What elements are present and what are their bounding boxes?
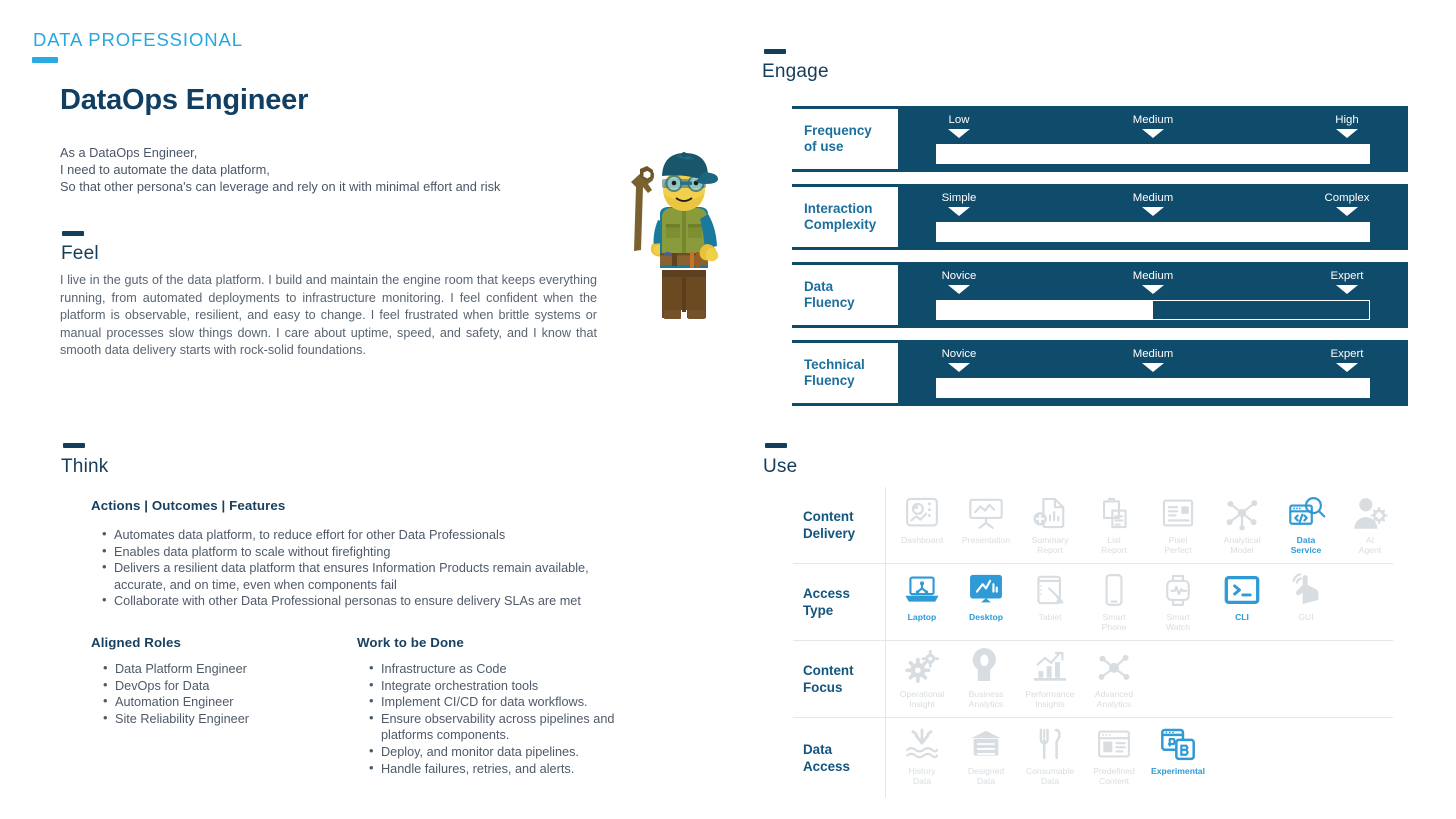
use-option-smartwatch[interactable]: Smart Watch: [1146, 571, 1210, 633]
pixel-perfect-icon: [1158, 494, 1198, 532]
engage-row: Frequency of useLowMediumHigh: [792, 106, 1408, 172]
presentation-icon: [966, 494, 1006, 532]
engage-row: Data FluencyNoviceMediumExpert: [792, 262, 1408, 328]
data-service-icon: [1286, 494, 1326, 532]
engage-tick-label: Medium: [1118, 270, 1188, 283]
use-cell-group: Operational InsightBusiness AnalyticsPer…: [885, 641, 1393, 717]
use-matrix: Content DeliveryDashboardPresentationSum…: [793, 487, 1393, 798]
use-option-label: Experimental: [1151, 766, 1205, 776]
engage-tick-label: Medium: [1118, 114, 1188, 127]
use-option-cli[interactable]: CLI: [1210, 571, 1274, 622]
use-option-tablet[interactable]: Tablet: [1018, 571, 1082, 622]
think-dash: [63, 443, 85, 448]
caret-down-icon: [1336, 207, 1358, 216]
use-option-label: Smart Watch: [1166, 612, 1190, 633]
engage-slider-track[interactable]: [936, 300, 1370, 320]
use-cell-group: History DataDesigned DataConsumable Data…: [885, 718, 1393, 798]
use-option-dashboard[interactable]: Dashboard: [890, 494, 954, 545]
use-row-label: Access Type: [793, 564, 885, 640]
caret-down-icon: [1142, 363, 1164, 372]
dashboard-icon: [902, 494, 942, 532]
use-option-list-report[interactable]: List Report: [1082, 494, 1146, 556]
engage-tick-label: High: [1312, 114, 1382, 127]
use-option-summary-report[interactable]: Summary Report: [1018, 494, 1082, 556]
engage-tick: Medium: [1118, 114, 1188, 138]
use-option-desktop[interactable]: Desktop: [954, 571, 1018, 622]
list-item: Automation Engineer: [101, 694, 351, 711]
use-option-label: Designed Data: [968, 766, 1004, 787]
caret-down-icon: [1336, 129, 1358, 138]
use-option-label: Business Analytics: [969, 689, 1004, 710]
desktop-icon: [966, 571, 1006, 609]
use-option-advanced-analytics[interactable]: Advanced Analytics: [1082, 648, 1146, 710]
use-row: Access TypeLaptopDesktopTabletSmart Phon…: [793, 564, 1393, 641]
use-option-predefined-content[interactable]: Predefined Content: [1082, 725, 1146, 787]
feel-heading: Feel: [61, 243, 99, 265]
list-item: Collaborate with other Data Professional…: [100, 593, 640, 610]
use-option-label: AI Agent: [1359, 535, 1381, 556]
engage-row-label-text: Data Fluency: [792, 279, 855, 312]
use-option-label: Smart Phone: [1102, 612, 1127, 633]
list-item: Site Reliability Engineer: [101, 711, 351, 728]
actions-outcomes-features-list: Automates data platform, to reduce effor…: [100, 527, 640, 610]
lego-minifigure-engineer-with-wrench: [618, 152, 750, 322]
engage-tick: Low: [924, 114, 994, 138]
experimental-icon: [1158, 725, 1198, 763]
use-row: Data AccessHistory DataDesigned DataCons…: [793, 718, 1393, 798]
use-option-presentation[interactable]: Presentation: [954, 494, 1018, 545]
list-item: Infrastructure as Code: [367, 661, 629, 678]
feel-dash: [62, 231, 84, 236]
list-item: Automates data platform, to reduce effor…: [100, 527, 640, 544]
use-option-label: CLI: [1235, 612, 1249, 622]
engage-slider-fill: [937, 223, 1369, 241]
engage-slider-track[interactable]: [936, 222, 1370, 242]
use-option-label: GUI: [1298, 612, 1313, 622]
engage-row: Interaction ComplexitySimpleMediumComple…: [792, 184, 1408, 250]
tablet-icon: [1030, 571, 1070, 609]
use-option-label: Data Service: [1291, 535, 1322, 556]
list-report-icon: [1094, 494, 1134, 532]
engage-slider-fill: [937, 145, 1369, 163]
advanced-analytics-icon: [1094, 648, 1134, 686]
use-option-experimental[interactable]: Experimental: [1146, 725, 1210, 776]
gui-icon: [1286, 571, 1326, 609]
aligned-roles-heading: Aligned Roles: [91, 635, 181, 650]
caret-down-icon: [948, 207, 970, 216]
use-option-label: List Report: [1101, 535, 1127, 556]
predefined-content-icon: [1094, 725, 1134, 763]
use-row-label: Content Focus: [793, 641, 885, 717]
engage-sliders: Frequency of useLowMediumHighInteraction…: [792, 106, 1408, 418]
use-option-label: Presentation: [962, 535, 1010, 545]
use-option-pixel-perfect[interactable]: Pixel Perfect: [1146, 494, 1210, 556]
work-to-be-done-list: Infrastructure as Code Integrate orchest…: [367, 661, 629, 777]
work-to-be-done-heading: Work to be Done: [357, 635, 464, 650]
caret-down-icon: [1336, 363, 1358, 372]
engage-row-label: Frequency of use: [792, 109, 898, 169]
engage-tick-label: Medium: [1118, 192, 1188, 205]
engage-tick-label: Medium: [1118, 348, 1188, 361]
eyebrow-label: DATA PROFESSIONAL: [33, 29, 243, 51]
use-option-history-data[interactable]: History Data: [890, 725, 954, 787]
use-option-analytical-model[interactable]: Analytical Model: [1210, 494, 1274, 556]
use-heading: Use: [763, 456, 797, 478]
engage-tick: Medium: [1118, 192, 1188, 216]
use-row-label: Content Delivery: [793, 487, 885, 563]
smartwatch-icon: [1158, 571, 1198, 609]
engage-row-label-text: Interaction Complexity: [792, 201, 876, 234]
list-item: Deploy, and monitor data pipelines.: [367, 744, 629, 761]
caret-down-icon: [948, 285, 970, 294]
feel-body: I live in the guts of the data platform.…: [60, 272, 597, 360]
engage-tick: Expert: [1312, 270, 1382, 294]
use-option-label: Advanced Analytics: [1095, 689, 1133, 710]
use-option-label: Summary Report: [1032, 535, 1069, 556]
engage-tick: Expert: [1312, 348, 1382, 372]
caret-down-icon: [1142, 285, 1164, 294]
page-title: DataOps Engineer: [60, 84, 308, 117]
engage-tick-label: Simple: [924, 192, 994, 205]
engage-slider-track[interactable]: [936, 378, 1370, 398]
laptop-icon: [902, 571, 942, 609]
use-option-performance-insights[interactable]: Performance Insights: [1018, 648, 1082, 710]
persona-story: As a DataOps Engineer, I need to automat…: [60, 144, 580, 195]
use-option-smartphone[interactable]: Smart Phone: [1082, 571, 1146, 633]
engage-tick-label: Novice: [924, 348, 994, 361]
use-option-label: Operational Insight: [900, 689, 944, 710]
operational-insight-icon: [902, 648, 942, 686]
left-column: DATA PROFESSIONAL DataOps Engineer As a …: [0, 0, 756, 819]
aligned-roles-list: Data Platform Engineer DevOps for Data A…: [101, 661, 351, 727]
engage-row: Technical FluencyNoviceMediumExpert: [792, 340, 1408, 406]
use-option-business-analytics[interactable]: Business Analytics: [954, 648, 1018, 710]
use-option-ai-agent[interactable]: AI Agent: [1338, 494, 1402, 556]
use-option-label: Desktop: [969, 612, 1003, 622]
analytical-model-icon: [1222, 494, 1262, 532]
engage-tick: Medium: [1118, 270, 1188, 294]
use-option-gui[interactable]: GUI: [1274, 571, 1338, 622]
use-option-label: Laptop: [908, 612, 937, 622]
list-item: Ensure observability across pipelines an…: [367, 711, 629, 744]
list-item: Delivers a resilient data platform that …: [100, 560, 640, 593]
engage-tick: Novice: [924, 348, 994, 372]
use-option-label: History Data: [909, 766, 936, 787]
use-option-designed-data[interactable]: Designed Data: [954, 725, 1018, 787]
use-option-operational-insight[interactable]: Operational Insight: [890, 648, 954, 710]
use-option-label: Analytical Model: [1224, 535, 1261, 556]
caret-down-icon: [1142, 129, 1164, 138]
persona-card: DATA PROFESSIONAL DataOps Engineer As a …: [0, 0, 1456, 819]
use-row-label: Data Access: [793, 718, 885, 798]
caret-down-icon: [948, 129, 970, 138]
consumable-data-icon: [1030, 725, 1070, 763]
engage-tick-label: Low: [924, 114, 994, 127]
use-option-label: Performance Insights: [1025, 689, 1074, 710]
engage-row-label-text: Frequency of use: [792, 123, 872, 156]
use-option-label: Dashboard: [901, 535, 943, 545]
performance-insights-icon: [1030, 648, 1070, 686]
engage-tick: High: [1312, 114, 1382, 138]
use-option-label: Tablet: [1039, 612, 1062, 622]
use-dash: [765, 443, 787, 448]
engage-tick: Novice: [924, 270, 994, 294]
list-item: Implement CI/CD for data workflows.: [367, 694, 629, 711]
engage-dash: [764, 49, 786, 54]
engage-tick: Medium: [1118, 348, 1188, 372]
use-cell-group: DashboardPresentationSummary ReportList …: [885, 487, 1402, 563]
actions-outcomes-features-heading: Actions | Outcomes | Features: [91, 498, 285, 513]
engage-tick-label: Expert: [1312, 270, 1382, 283]
business-analytics-icon: [966, 648, 1006, 686]
ai-agent-icon: [1350, 494, 1390, 532]
smartphone-icon: [1094, 571, 1134, 609]
engage-tick: Simple: [924, 192, 994, 216]
use-row: Content FocusOperational InsightBusiness…: [793, 641, 1393, 718]
use-option-label: Consumable Data: [1026, 766, 1074, 787]
list-item: Handle failures, retries, and alerts.: [367, 761, 629, 778]
use-row: Content DeliveryDashboardPresentationSum…: [793, 487, 1393, 564]
engage-row-label: Interaction Complexity: [792, 187, 898, 247]
use-option-consumable-data[interactable]: Consumable Data: [1018, 725, 1082, 787]
engage-tick-label: Complex: [1312, 192, 1382, 205]
engage-tick-label: Expert: [1312, 348, 1382, 361]
engage-slider-fill: [937, 301, 1153, 319]
engage-tick-label: Novice: [924, 270, 994, 283]
think-heading: Think: [61, 456, 108, 478]
engage-heading: Engage: [762, 61, 829, 83]
use-cell-group: LaptopDesktopTabletSmart PhoneSmart Watc…: [885, 564, 1393, 640]
engage-slider-track[interactable]: [936, 144, 1370, 164]
use-option-label: Pixel Perfect: [1164, 535, 1191, 556]
engage-row-label: Data Fluency: [792, 265, 898, 325]
use-option-data-service[interactable]: Data Service: [1274, 494, 1338, 556]
list-item: Integrate orchestration tools: [367, 678, 629, 695]
use-option-label: Predefined Content: [1093, 766, 1135, 787]
caret-down-icon: [1336, 285, 1358, 294]
list-item: Data Platform Engineer: [101, 661, 351, 678]
accent-dash: [32, 57, 58, 63]
engage-row-label: Technical Fluency: [792, 343, 898, 403]
list-item: DevOps for Data: [101, 678, 351, 695]
cli-icon: [1222, 571, 1262, 609]
engage-slider-fill: [937, 379, 1369, 397]
engage-row-label-text: Technical Fluency: [792, 357, 865, 390]
designed-data-icon: [966, 725, 1006, 763]
history-data-icon: [902, 725, 942, 763]
summary-report-icon: [1030, 494, 1070, 532]
caret-down-icon: [1142, 207, 1164, 216]
list-item: Enables data platform to scale without f…: [100, 544, 640, 561]
caret-down-icon: [948, 363, 970, 372]
use-option-laptop[interactable]: Laptop: [890, 571, 954, 622]
engage-tick: Complex: [1312, 192, 1382, 216]
